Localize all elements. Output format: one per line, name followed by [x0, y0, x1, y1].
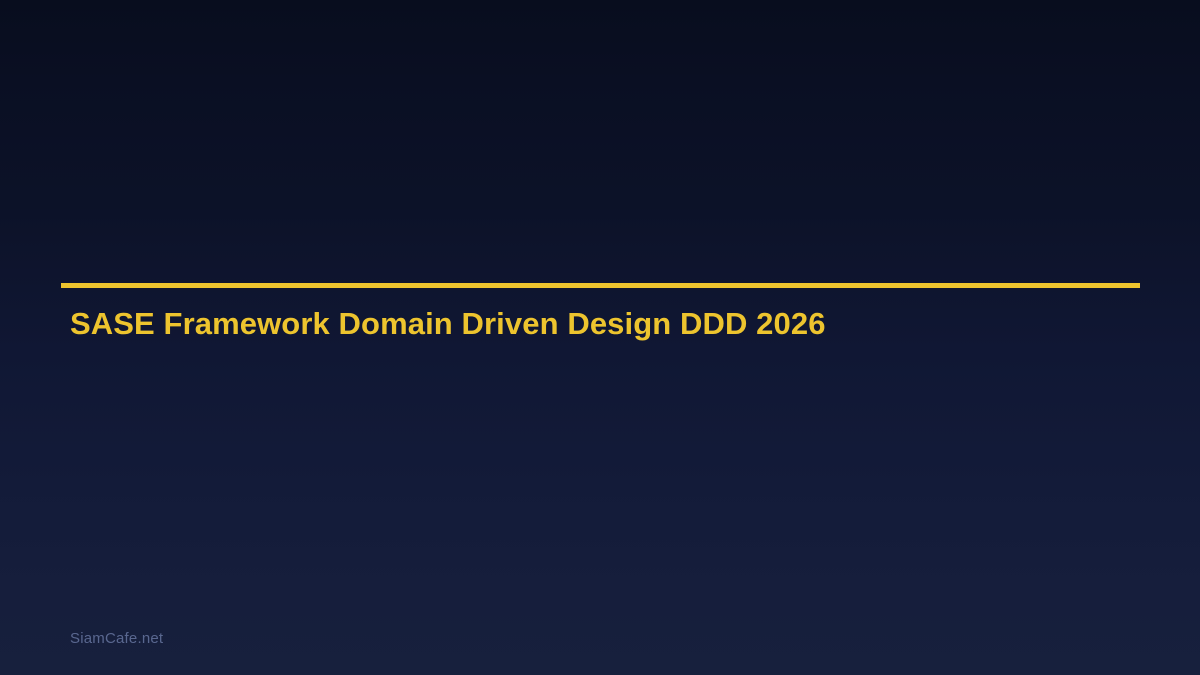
page-title: SASE Framework Domain Driven Design DDD …: [70, 304, 826, 344]
watermark-label: SiamCafe.net: [70, 629, 163, 649]
gold-accent-rule: [61, 283, 1140, 288]
slide-canvas: SASE Framework Domain Driven Design DDD …: [0, 0, 1200, 675]
title-block: SASE Framework Domain Driven Design DDD …: [61, 283, 1140, 288]
